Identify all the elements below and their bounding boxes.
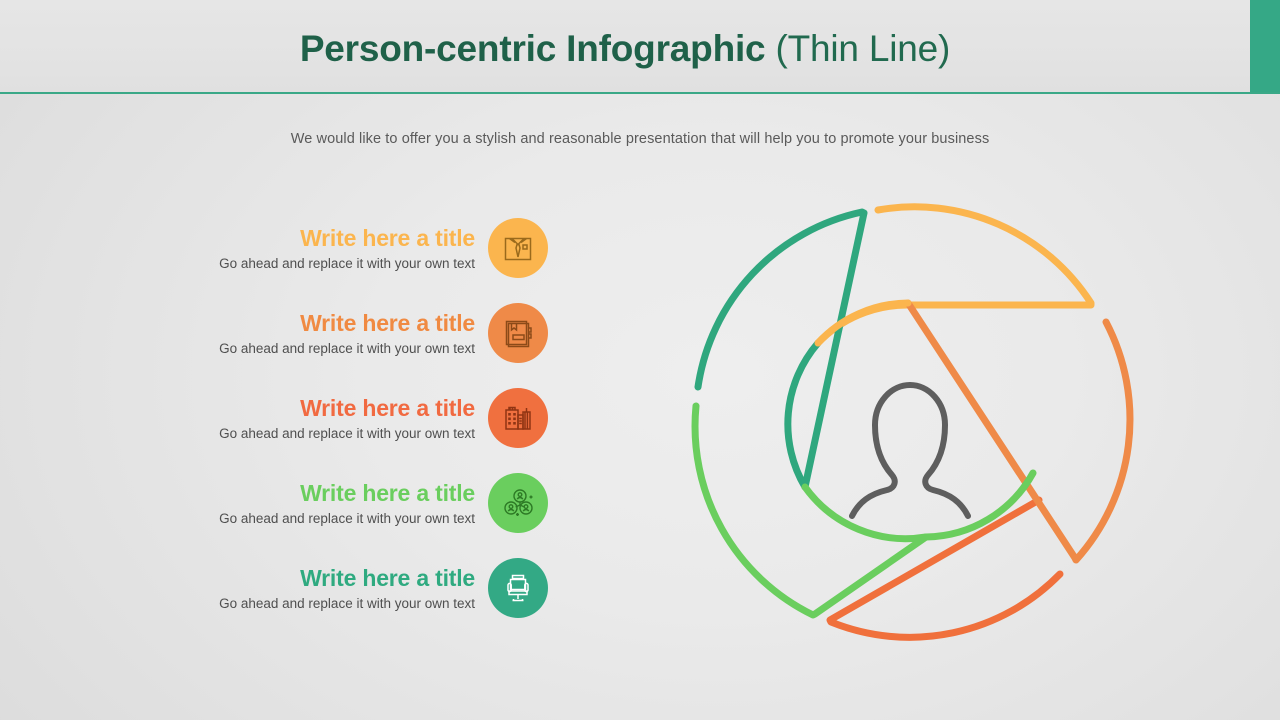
slide-header: Person-centric Infographic (Thin Line) bbox=[0, 0, 1280, 94]
list-item-description: Go ahead and replace it with your own te… bbox=[175, 255, 475, 272]
page-title: Person-centric Infographic (Thin Line) bbox=[0, 27, 1250, 71]
page-title-strong: Person-centric Infographic bbox=[300, 28, 776, 69]
list-item-text: Write here a title Go ahead and replace … bbox=[175, 224, 475, 272]
person-centric-aperture-diagram bbox=[672, 182, 1148, 658]
buildings-icon bbox=[501, 401, 535, 435]
list-item-badge[interactable] bbox=[488, 558, 548, 618]
feature-list: Write here a title Go ahead and replace … bbox=[175, 218, 555, 643]
list-item-badge[interactable] bbox=[488, 388, 548, 448]
list-item-description: Go ahead and replace it with your own te… bbox=[175, 340, 475, 357]
slide: Person-centric Infographic (Thin Line) W… bbox=[0, 0, 1280, 720]
list-item-title: Write here a title bbox=[175, 224, 475, 252]
list-item-badge[interactable] bbox=[488, 218, 548, 278]
list-item-text: Write here a title Go ahead and replace … bbox=[175, 309, 475, 357]
list-item[interactable]: Write here a title Go ahead and replace … bbox=[175, 388, 555, 473]
notebook-icon bbox=[501, 316, 535, 350]
inner-aperture-ring bbox=[788, 303, 1042, 539]
office-chair-icon bbox=[501, 571, 535, 605]
list-item-title: Write here a title bbox=[175, 394, 475, 422]
person-silhouette-icon bbox=[852, 385, 968, 516]
page-title-light: (Thin Line) bbox=[776, 28, 951, 69]
list-item-text: Write here a title Go ahead and replace … bbox=[175, 394, 475, 442]
list-item-title: Write here a title bbox=[175, 564, 475, 592]
list-item-description: Go ahead and replace it with your own te… bbox=[175, 595, 475, 612]
list-item-description: Go ahead and replace it with your own te… bbox=[175, 425, 475, 442]
header-divider bbox=[0, 92, 1280, 94]
blade-teal bbox=[698, 212, 864, 487]
list-item[interactable]: Write here a title Go ahead and replace … bbox=[175, 303, 555, 388]
list-item-title: Write here a title bbox=[175, 479, 475, 507]
list-item[interactable]: Write here a title Go ahead and replace … bbox=[175, 558, 555, 643]
list-item-text: Write here a title Go ahead and replace … bbox=[175, 564, 475, 612]
list-item[interactable]: Write here a title Go ahead and replace … bbox=[175, 218, 555, 303]
list-item-badge[interactable] bbox=[488, 303, 548, 363]
list-item-text: Write here a title Go ahead and replace … bbox=[175, 479, 475, 527]
list-item-title: Write here a title bbox=[175, 309, 475, 337]
slide-subtitle: We would like to offer you a stylish and… bbox=[0, 131, 1280, 147]
list-item-description: Go ahead and replace it with your own te… bbox=[175, 510, 475, 527]
list-item-badge[interactable] bbox=[488, 473, 548, 533]
header-accent-block bbox=[1250, 0, 1280, 93]
shirt-tie-icon bbox=[501, 231, 535, 265]
people-network-icon bbox=[501, 486, 535, 520]
list-item[interactable]: Write here a title Go ahead and replace … bbox=[175, 473, 555, 558]
